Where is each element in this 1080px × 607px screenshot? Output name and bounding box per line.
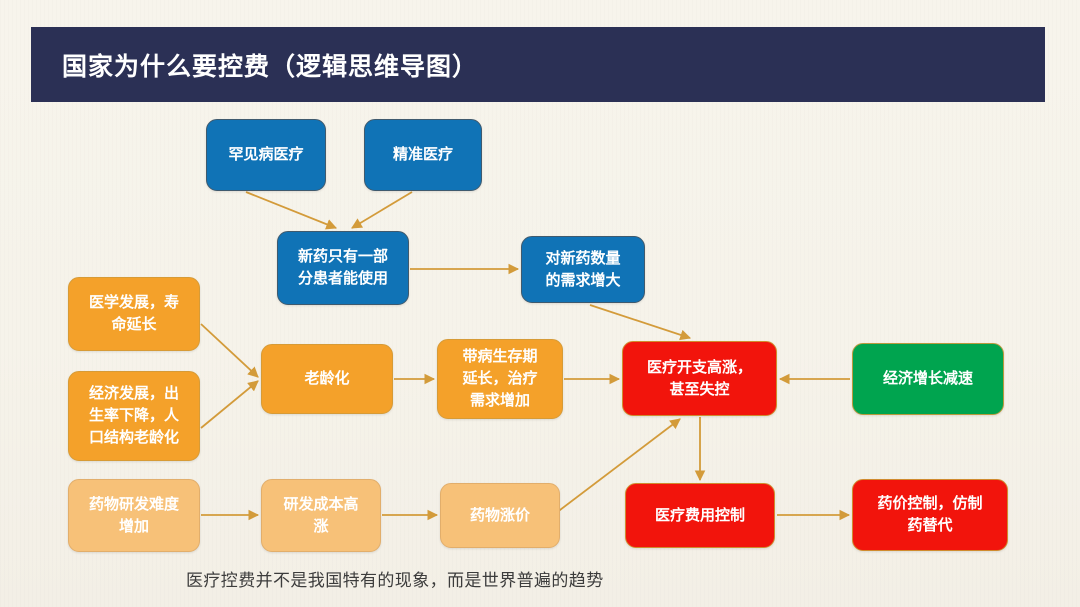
footer-note: 医疗控费并不是我国特有的现象，而是世界普遍的趋势 xyxy=(186,566,604,591)
node-precision-medicine[interactable]: 精准医疗 xyxy=(364,119,482,191)
node-healthcare-cost-control[interactable]: 医疗费用控制 xyxy=(625,483,775,548)
node-rare-disease-care[interactable]: 罕见病医疗 xyxy=(206,119,326,191)
node-rnd-cost-surge[interactable]: 研发成本高 涨 xyxy=(261,479,381,552)
edge-n6-n7 xyxy=(201,381,258,428)
node-rnd-difficulty-increase[interactable]: 药物研发难度 增加 xyxy=(68,479,200,552)
slide-canvas: 国家为什么要控费（逻辑思维导图） xyxy=(0,0,1080,607)
slide-header: 国家为什么要控费（逻辑思维导图） xyxy=(31,27,1045,102)
node-survival-treatment-demand[interactable]: 带病生存期 延长，治疗 需求增加 xyxy=(437,339,563,419)
node-new-drug-demand-growth[interactable]: 对新药数量 的需求增大 xyxy=(521,236,645,303)
node-economic-growth-slowdown[interactable]: 经济增长减速 xyxy=(852,343,1004,415)
node-healthcare-spending-surge[interactable]: 医疗开支高涨， 甚至失控 xyxy=(622,341,777,416)
node-drug-price-increase[interactable]: 药物涨价 xyxy=(440,483,560,548)
edge-n2-n3 xyxy=(352,192,412,228)
node-aging[interactable]: 老龄化 xyxy=(261,344,393,414)
node-new-drug-limited-patients[interactable]: 新药只有一部 分患者能使用 xyxy=(277,231,409,305)
edge-n5-n7 xyxy=(201,324,258,377)
edge-n1-n3 xyxy=(246,192,336,228)
node-medical-progress-longevity[interactable]: 医学发展，寿 命延长 xyxy=(68,277,200,351)
page-title: 国家为什么要控费（逻辑思维导图） xyxy=(62,47,478,83)
node-economy-birthrate-aging[interactable]: 经济发展，出 生率下降，人 口结构老龄化 xyxy=(68,371,200,461)
node-price-control-generics[interactable]: 药价控制，仿制 药替代 xyxy=(852,479,1008,551)
edge-n4-n9 xyxy=(590,305,690,338)
